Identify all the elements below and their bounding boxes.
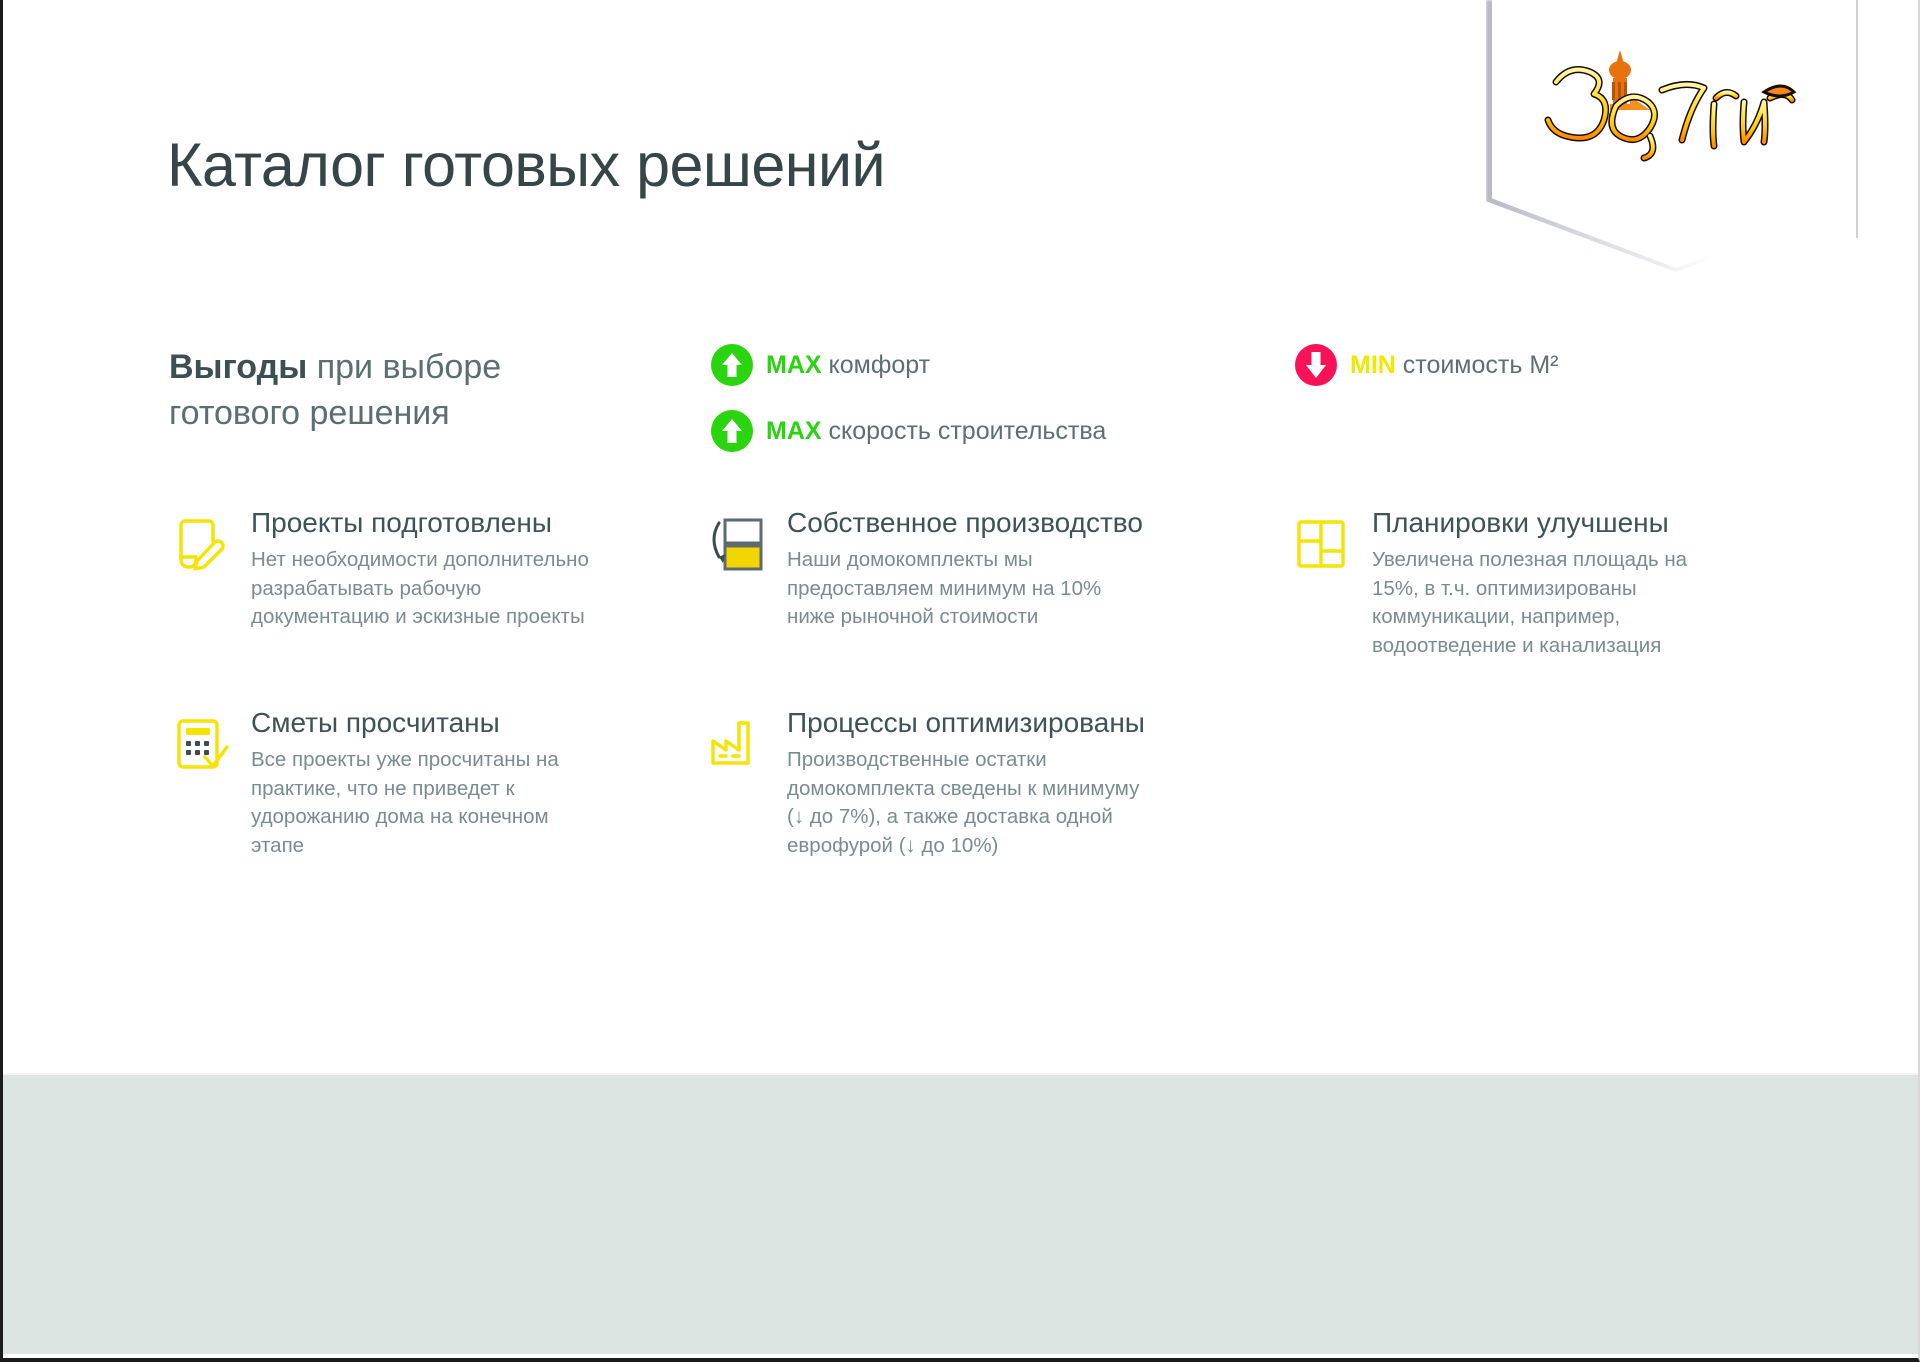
feature-desc: Нет необходимости дополнительно разрабат…	[251, 546, 597, 632]
arrow-up-circle-icon	[711, 344, 753, 386]
badge-min-cost-text: MIN стоимость М²	[1350, 351, 1558, 380]
badge-keyword: MIN	[1350, 351, 1396, 379]
benefits-lead: Выгоды при выборе готового решения	[169, 345, 599, 437]
badge-label: стоимость М²	[1396, 351, 1559, 379]
badge-min-cost: MIN стоимость М²	[1295, 344, 1558, 386]
ribbon-right-edge	[1856, 0, 1858, 238]
benefits-lead-bold: Выгоды	[169, 348, 307, 386]
feature-processes-optimized: Процессы оптимизированы Производственные…	[703, 705, 1153, 861]
feature-title: Проекты подготовлены	[251, 505, 597, 540]
production-boxes-icon	[703, 511, 769, 577]
badge-max-comfort-text: MAX комфорт	[766, 351, 930, 380]
badge-keyword: MAX	[766, 417, 822, 445]
feature-layouts-improved: Планировки улучшены Увеличена полезная п…	[1288, 505, 1718, 661]
feature-desc: Наши домокомплекты мы предоставляем мини…	[787, 546, 1153, 632]
feature-title: Собственное производство	[787, 505, 1153, 540]
logo-flourish	[1764, 86, 1794, 96]
badge-max-speed-text: MAX скорость строительства	[766, 417, 1106, 446]
badge-label: комфорт	[822, 351, 931, 379]
feature-projects-prepared: Проекты подготовлены Нет необходимости д…	[167, 505, 597, 632]
calculator-check-icon	[167, 711, 233, 777]
logo-wordmark	[1548, 70, 1792, 158]
badge-label: скорость строительства	[822, 417, 1107, 445]
feature-desc: Все проекты уже просчитаны на практике, …	[251, 746, 597, 861]
arrow-up-circle-icon	[711, 410, 753, 452]
feature-desc: Увеличена полезная площадь на 15%, в т.ч…	[1372, 546, 1718, 661]
floorplan-grid-icon	[1288, 511, 1354, 577]
document-pencil-icon	[167, 511, 233, 577]
feature-title: Сметы просчитаны	[251, 705, 597, 740]
feature-title: Планировки улучшены	[1372, 505, 1718, 540]
bottom-band	[3, 1073, 1918, 1354]
feature-own-production: Собственное производство Наши домокомпле…	[703, 505, 1153, 632]
brand-logo[interactable]	[1524, 40, 1814, 170]
badge-max-comfort: MAX комфорт	[711, 344, 930, 386]
badge-keyword: MAX	[766, 351, 822, 379]
feature-estimates-calculated: Сметы просчитаны Все проекты уже просчит…	[167, 705, 597, 861]
factory-icon	[703, 711, 769, 777]
arrow-down-circle-icon	[1295, 344, 1337, 386]
slide-canvas: Каталог готовых решений Выгоды при выбор…	[0, 0, 1920, 1362]
feature-desc: Производственные остатки домокомплекта с…	[787, 746, 1153, 861]
page-title: Каталог готовых решений	[167, 133, 885, 197]
badge-max-speed: MAX скорость строительства	[711, 410, 1106, 452]
logo-wordmark-outline	[1548, 70, 1792, 158]
logo-ribbon	[1486, 0, 1866, 272]
feature-title: Процессы оптимизированы	[787, 705, 1153, 740]
